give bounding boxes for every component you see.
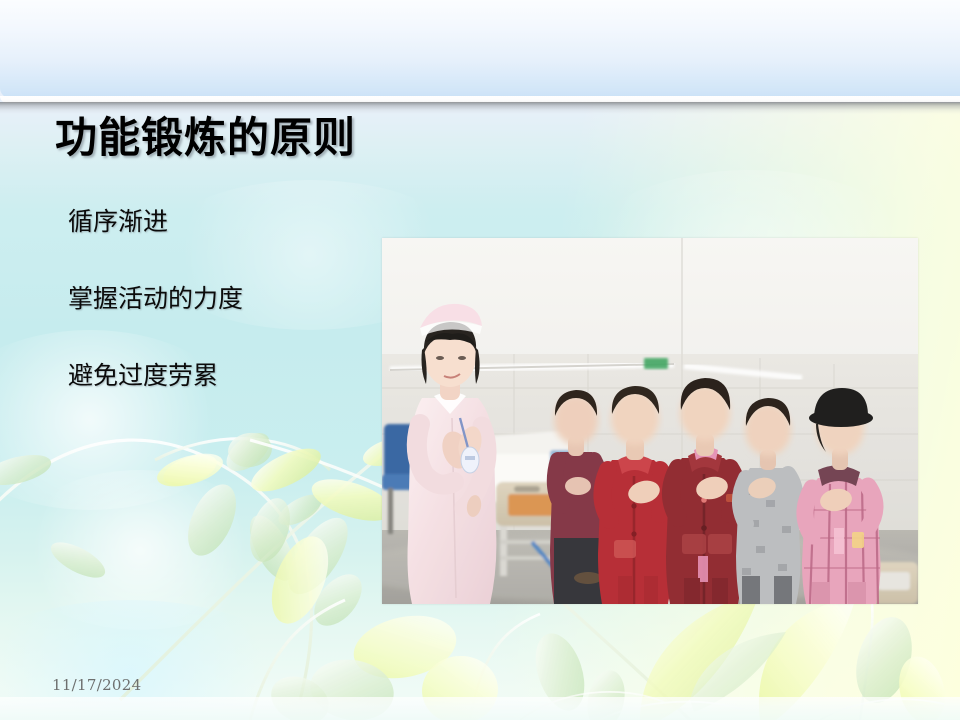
background-cloud (10, 470, 270, 630)
slide-date: 11/17/2024 (52, 676, 141, 694)
bullet-list: 循序渐进 掌握活动的力度 避免过度劳累 (68, 208, 368, 390)
list-item: 掌握活动的力度 (68, 285, 368, 313)
content-photo (382, 238, 918, 604)
slide-canvas: 功能锻炼的原则 循序渐进 掌握活动的力度 避免过度劳累 (0, 0, 960, 720)
list-item: 避免过度劳累 (68, 362, 368, 390)
header-banner (0, 0, 960, 98)
page-title: 功能锻炼的原则 (55, 114, 356, 162)
list-item: 循序渐进 (68, 208, 368, 236)
bottom-haze-band (0, 697, 960, 720)
